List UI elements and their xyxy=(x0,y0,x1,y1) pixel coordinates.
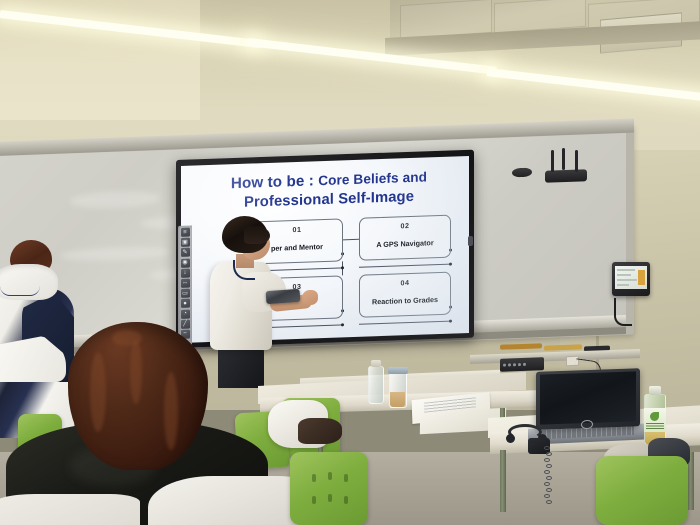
clock-icon[interactable]: ◔ xyxy=(181,309,190,318)
tea-label-text xyxy=(646,423,664,429)
chain-link xyxy=(544,494,550,498)
record-icon[interactable]: ● xyxy=(181,299,190,308)
tumbler-lid xyxy=(388,367,408,374)
clear-water-bottle[interactable] xyxy=(368,366,384,404)
chain-link xyxy=(546,452,552,456)
router-antenna-icon xyxy=(562,148,565,170)
chain-link xyxy=(544,482,550,486)
status-led xyxy=(518,363,521,366)
dark-backpack[interactable] xyxy=(298,418,342,444)
chain-link xyxy=(544,446,550,450)
slide-box-02-label: A GPS Navigator xyxy=(360,238,450,250)
desk-leg xyxy=(500,450,506,512)
chain-link xyxy=(544,458,550,462)
presenter-hair-fringe xyxy=(244,226,270,244)
student-center-hair xyxy=(68,322,208,470)
flow-connector xyxy=(343,239,359,241)
tea-bottle-cap xyxy=(649,386,661,395)
slide-title-rest: Core Beliefs and xyxy=(318,169,427,188)
slide-title-lead: How to be : xyxy=(231,172,318,192)
side-edge-button[interactable] xyxy=(468,236,473,246)
chain-link xyxy=(544,470,550,474)
flow-connector xyxy=(359,321,451,325)
status-led xyxy=(523,363,526,366)
smartphone[interactable] xyxy=(266,289,301,304)
slide-title: How to be : Core Beliefs and Professiona… xyxy=(209,168,449,213)
flow-dot xyxy=(449,320,452,323)
chair[interactable] xyxy=(290,452,368,525)
green-tea-bottle[interactable] xyxy=(644,384,666,446)
router-antenna-icon xyxy=(551,150,554,172)
flow-dot xyxy=(341,323,344,326)
save-icon[interactable]: ↓ xyxy=(181,268,190,277)
folder-icon[interactable]: ▭ xyxy=(181,289,190,298)
screenshot-icon[interactable]: ▣ xyxy=(181,238,190,247)
av-control-tablet[interactable] xyxy=(615,266,647,289)
flow-dot xyxy=(449,263,452,266)
status-led xyxy=(508,363,511,366)
slide-box-02-number: 02 xyxy=(360,221,450,232)
flow-dot xyxy=(341,266,344,269)
slide-box-04-label: Reaction to Grades xyxy=(360,295,450,307)
presenter-hand xyxy=(302,290,318,305)
chain-link xyxy=(546,476,552,480)
slide-box-04-number: 04 xyxy=(360,278,450,289)
leaf-icon xyxy=(650,412,659,421)
bike-chain-lock[interactable] xyxy=(544,446,552,508)
camera-icon[interactable]: ◉ xyxy=(181,258,190,267)
slide-box-02: 02 A GPS Navigator xyxy=(359,215,451,261)
arrows-icon[interactable]: ↔ xyxy=(181,279,190,288)
chain-link xyxy=(546,464,552,468)
chain-link xyxy=(546,488,552,492)
laptop-screen[interactable] xyxy=(540,371,636,424)
chain-link xyxy=(546,500,552,504)
headphone-earcup xyxy=(506,434,515,443)
menu-icon[interactable]: ≡ xyxy=(181,228,190,237)
tablet-cable xyxy=(614,298,632,326)
status-led xyxy=(513,363,516,366)
bottle-cap xyxy=(371,360,381,367)
flow-connector xyxy=(359,264,451,268)
status-led xyxy=(503,364,506,367)
classroom-photo: How to be : Core Beliefs and Professiona… xyxy=(0,0,700,525)
slide-box-04: 04 Reaction to Grades xyxy=(359,272,451,318)
router-antenna-icon xyxy=(575,150,578,172)
tumbler-liquid xyxy=(390,392,405,407)
chair[interactable] xyxy=(596,456,688,525)
student-left-hood-cord xyxy=(0,286,40,296)
foreground-cloth xyxy=(0,494,140,525)
annotate-icon[interactable]: ✎ xyxy=(181,248,190,257)
